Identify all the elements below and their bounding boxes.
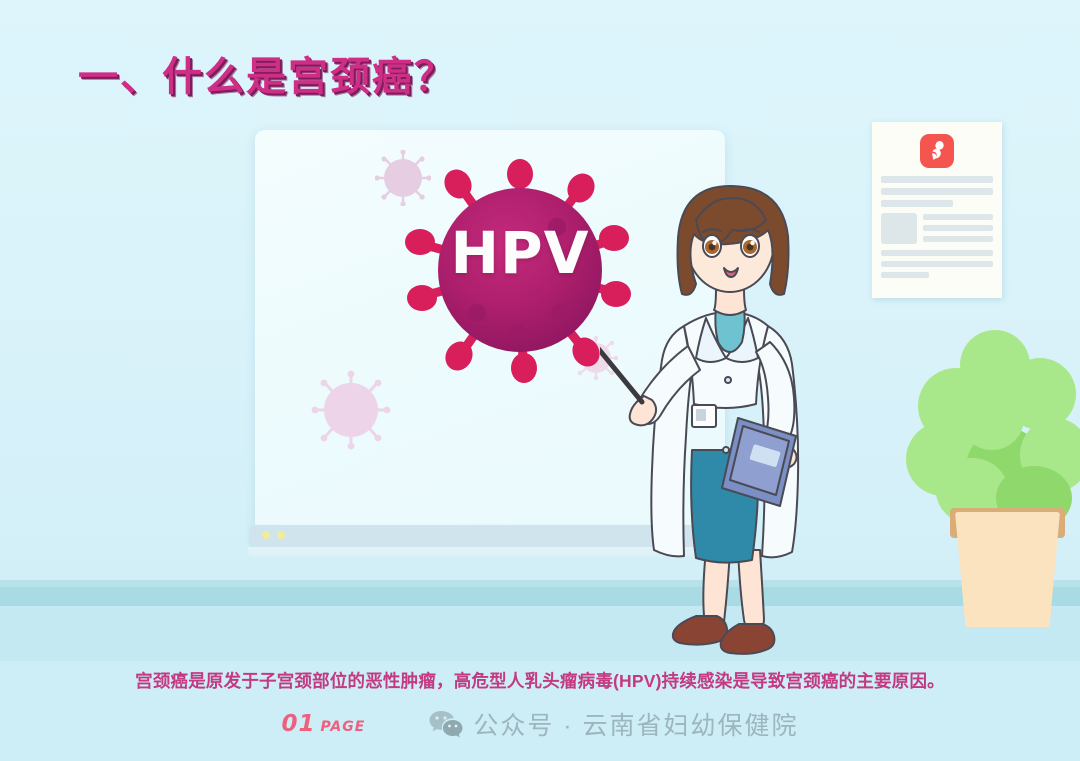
slide-canvas: 一、什么是宫颈癌？ <box>0 0 1080 761</box>
page-number-badge: 01 PAGE <box>281 711 365 737</box>
poster-text-line <box>923 214 993 220</box>
page-word: PAGE <box>320 719 365 735</box>
poster-text-line <box>881 176 993 183</box>
poster-text-line <box>881 200 953 207</box>
footer-bar: 01 PAGE 公众号 · 云南省妇幼保健院 <box>0 706 1080 742</box>
pointer-stick <box>600 336 642 402</box>
poster-text-line <box>923 236 993 242</box>
board-indicator-dots <box>262 531 285 539</box>
poster-text-line <box>881 188 993 195</box>
wechat-icon <box>429 710 463 738</box>
page-title: 一、什么是宫颈癌？ <box>78 55 456 99</box>
slide-caption: 宫颈癌是原发于子宫颈部位的恶性肿瘤，高危型人乳头瘤病毒(HPV)持续感染是导致宫… <box>0 668 1080 693</box>
wechat-account-label: 公众号 · 云南省妇幼保健院 <box>429 706 798 742</box>
poster-text-line <box>881 250 993 256</box>
page-number: 01 <box>281 711 315 737</box>
wall-poster <box>872 122 1002 298</box>
female-doctor-illustration <box>600 150 860 660</box>
virus-decor-small <box>311 370 391 450</box>
plant-leaf <box>960 386 1024 450</box>
mother-and-child-health-logo <box>920 134 954 168</box>
wechat-text: 公众号 · 云南省妇幼保健院 <box>473 706 798 742</box>
poster-text-line <box>881 261 993 267</box>
plant-pot <box>955 512 1060 627</box>
potted-plant <box>900 330 1080 630</box>
poster-image-block <box>881 213 917 244</box>
poster-text-line <box>881 272 929 278</box>
logo-glyph <box>928 140 946 162</box>
poster-text-line <box>923 225 993 231</box>
